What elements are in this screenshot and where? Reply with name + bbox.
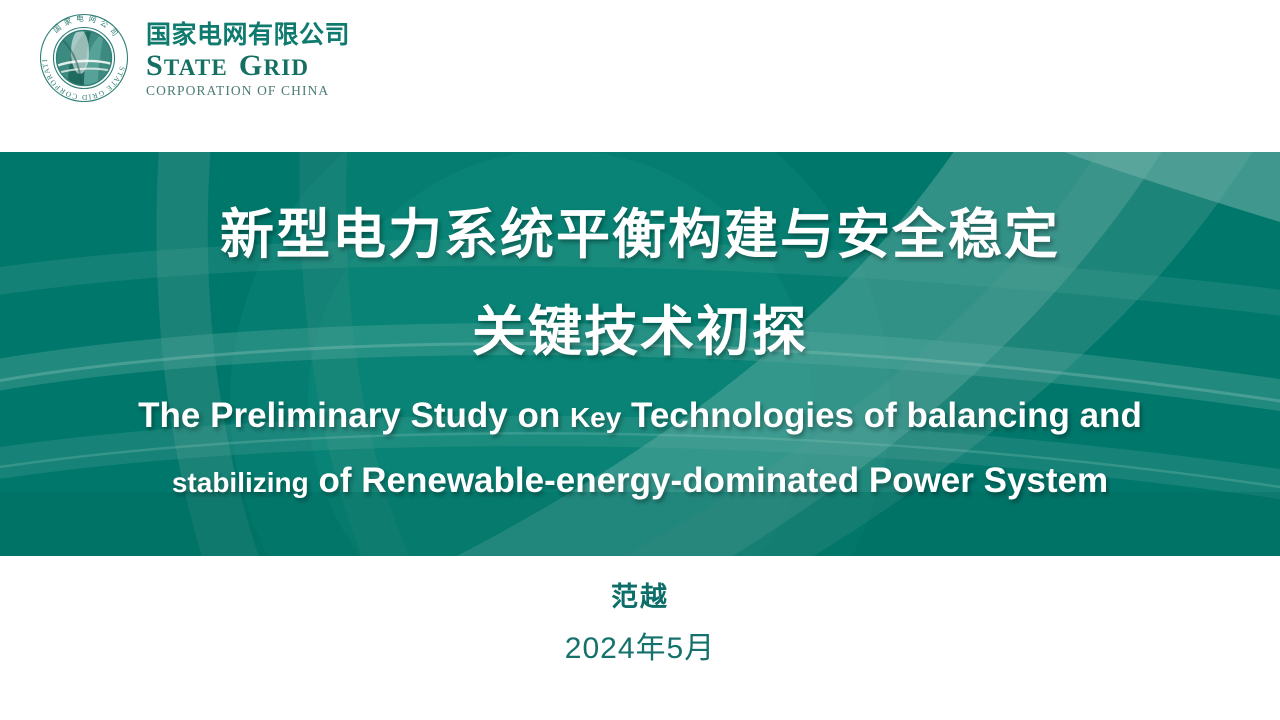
title-slide: STATE GRID CORPORATION OF CHINA 国家电网公司 国…	[0, 0, 1280, 720]
title-en-part-b: Technologies of balancing and	[621, 396, 1142, 435]
brand-lockup: STATE GRID CORPORATION OF CHINA 国家电网公司 国…	[38, 8, 350, 108]
brand-company-name-cn: 国家电网有限公司	[146, 21, 350, 49]
presenter-meta: 范越 2024年5月	[0, 584, 1280, 664]
presentation-date: 2024年5月	[0, 634, 1280, 664]
title-content: 新型电力系统平衡构建与安全稳定 关键技术初探 The Preliminary S…	[0, 152, 1280, 556]
title-en-part-a: The Preliminary Study on	[138, 396, 570, 435]
brand-en-tate: TATE	[164, 55, 228, 80]
presenter-name: 范越	[0, 584, 1280, 611]
title-en-part-c: stabilizing	[172, 467, 309, 498]
title-band: 新型电力系统平衡构建与安全稳定 关键技术初探 The Preliminary S…	[0, 152, 1280, 556]
title-english-line-2: stabilizing of Renewable-energy-dominate…	[172, 460, 1108, 502]
brand-company-subtitle-en: CORPORATION OF CHINA	[146, 83, 350, 99]
title-en-part-d: of Renewable-energy-dominated Power Syst…	[309, 461, 1108, 500]
title-chinese-line-1: 新型电力系统平衡构建与安全稳定	[220, 204, 1060, 267]
brand-en-s: S	[146, 49, 164, 82]
state-grid-globe-emblem-icon: STATE GRID CORPORATION OF CHINA 国家电网公司	[38, 12, 130, 104]
brand-company-name-en: STATEGRID	[146, 50, 350, 82]
brand-en-rid: RID	[263, 55, 309, 80]
brand-en-g: G	[239, 49, 264, 82]
title-en-keyword-key: Key	[570, 402, 621, 433]
brand-text-block: 国家电网有限公司 STATEGRID CORPORATION OF CHINA	[146, 17, 350, 100]
title-chinese-line-2: 关键技术初探	[472, 301, 808, 364]
title-english-line-1: The Preliminary Study on Key Technologie…	[138, 395, 1142, 437]
